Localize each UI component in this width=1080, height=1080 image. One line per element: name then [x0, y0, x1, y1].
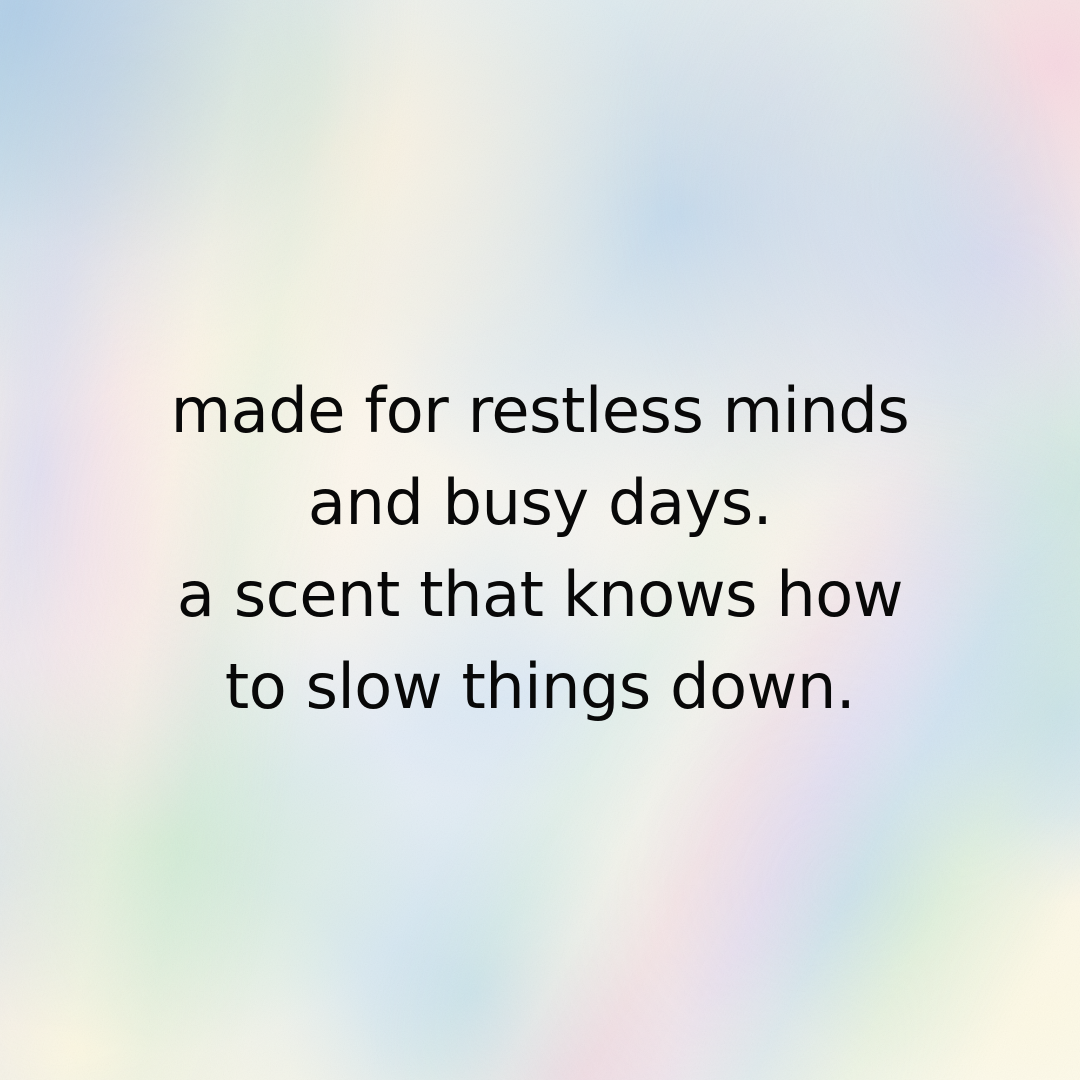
quote-card-canvas: made for restless minds and busy days. a…: [0, 0, 1080, 1080]
quote-line-2: and busy days.: [308, 457, 772, 549]
quote-line-1: made for restless minds: [171, 365, 910, 457]
quote-text-block: made for restless minds and busy days. a…: [0, 0, 1080, 1080]
quote-line-3: a scent that knows how: [177, 549, 903, 641]
quote-line-4: to slow things down.: [225, 641, 855, 733]
